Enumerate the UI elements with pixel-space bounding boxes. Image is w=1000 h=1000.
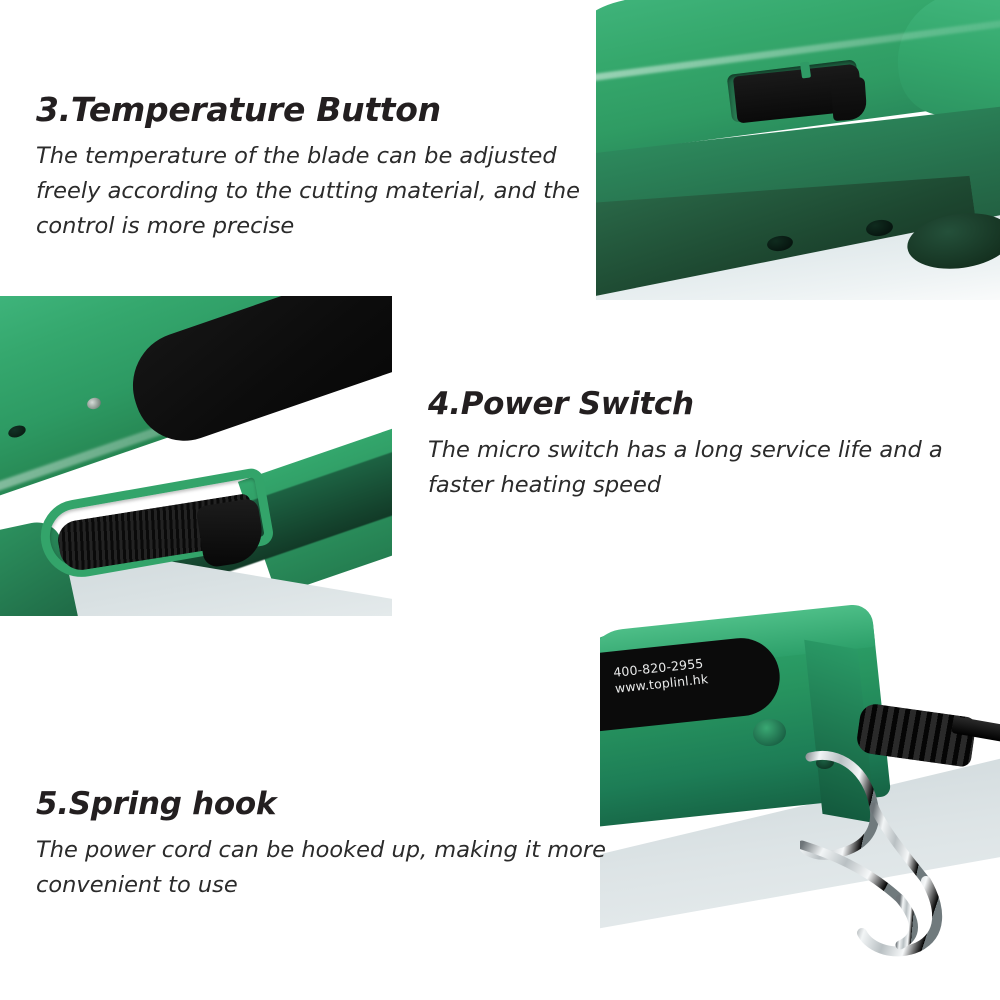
photo-power-switch	[0, 296, 392, 616]
feature-power-switch: 4.Power Switch The micro switch has a lo…	[428, 383, 973, 503]
infographic-canvas: 400-820-2955 www.toplinl.hk	[0, 0, 1000, 1000]
feature-description: The power cord can be hooked up, making …	[36, 833, 616, 903]
feature-description: The micro switch has a long service life…	[428, 433, 973, 503]
feature-temperature-button: 3.Temperature Button The temperature of …	[36, 88, 581, 244]
feature-spring-hook: 5.Spring hook The power cord can be hook…	[36, 783, 616, 903]
photo-spring-hook: 400-820-2955 www.toplinl.hk	[600, 604, 1000, 1000]
feature-title: 5.Spring hook	[36, 783, 616, 825]
feature-title: 3.Temperature Button	[36, 88, 581, 132]
spring-hook-icon	[800, 749, 980, 979]
photo-temperature-button	[596, 0, 1000, 300]
feature-title: 4.Power Switch	[428, 383, 973, 425]
feature-description: The temperature of the blade can be adju…	[36, 139, 581, 244]
